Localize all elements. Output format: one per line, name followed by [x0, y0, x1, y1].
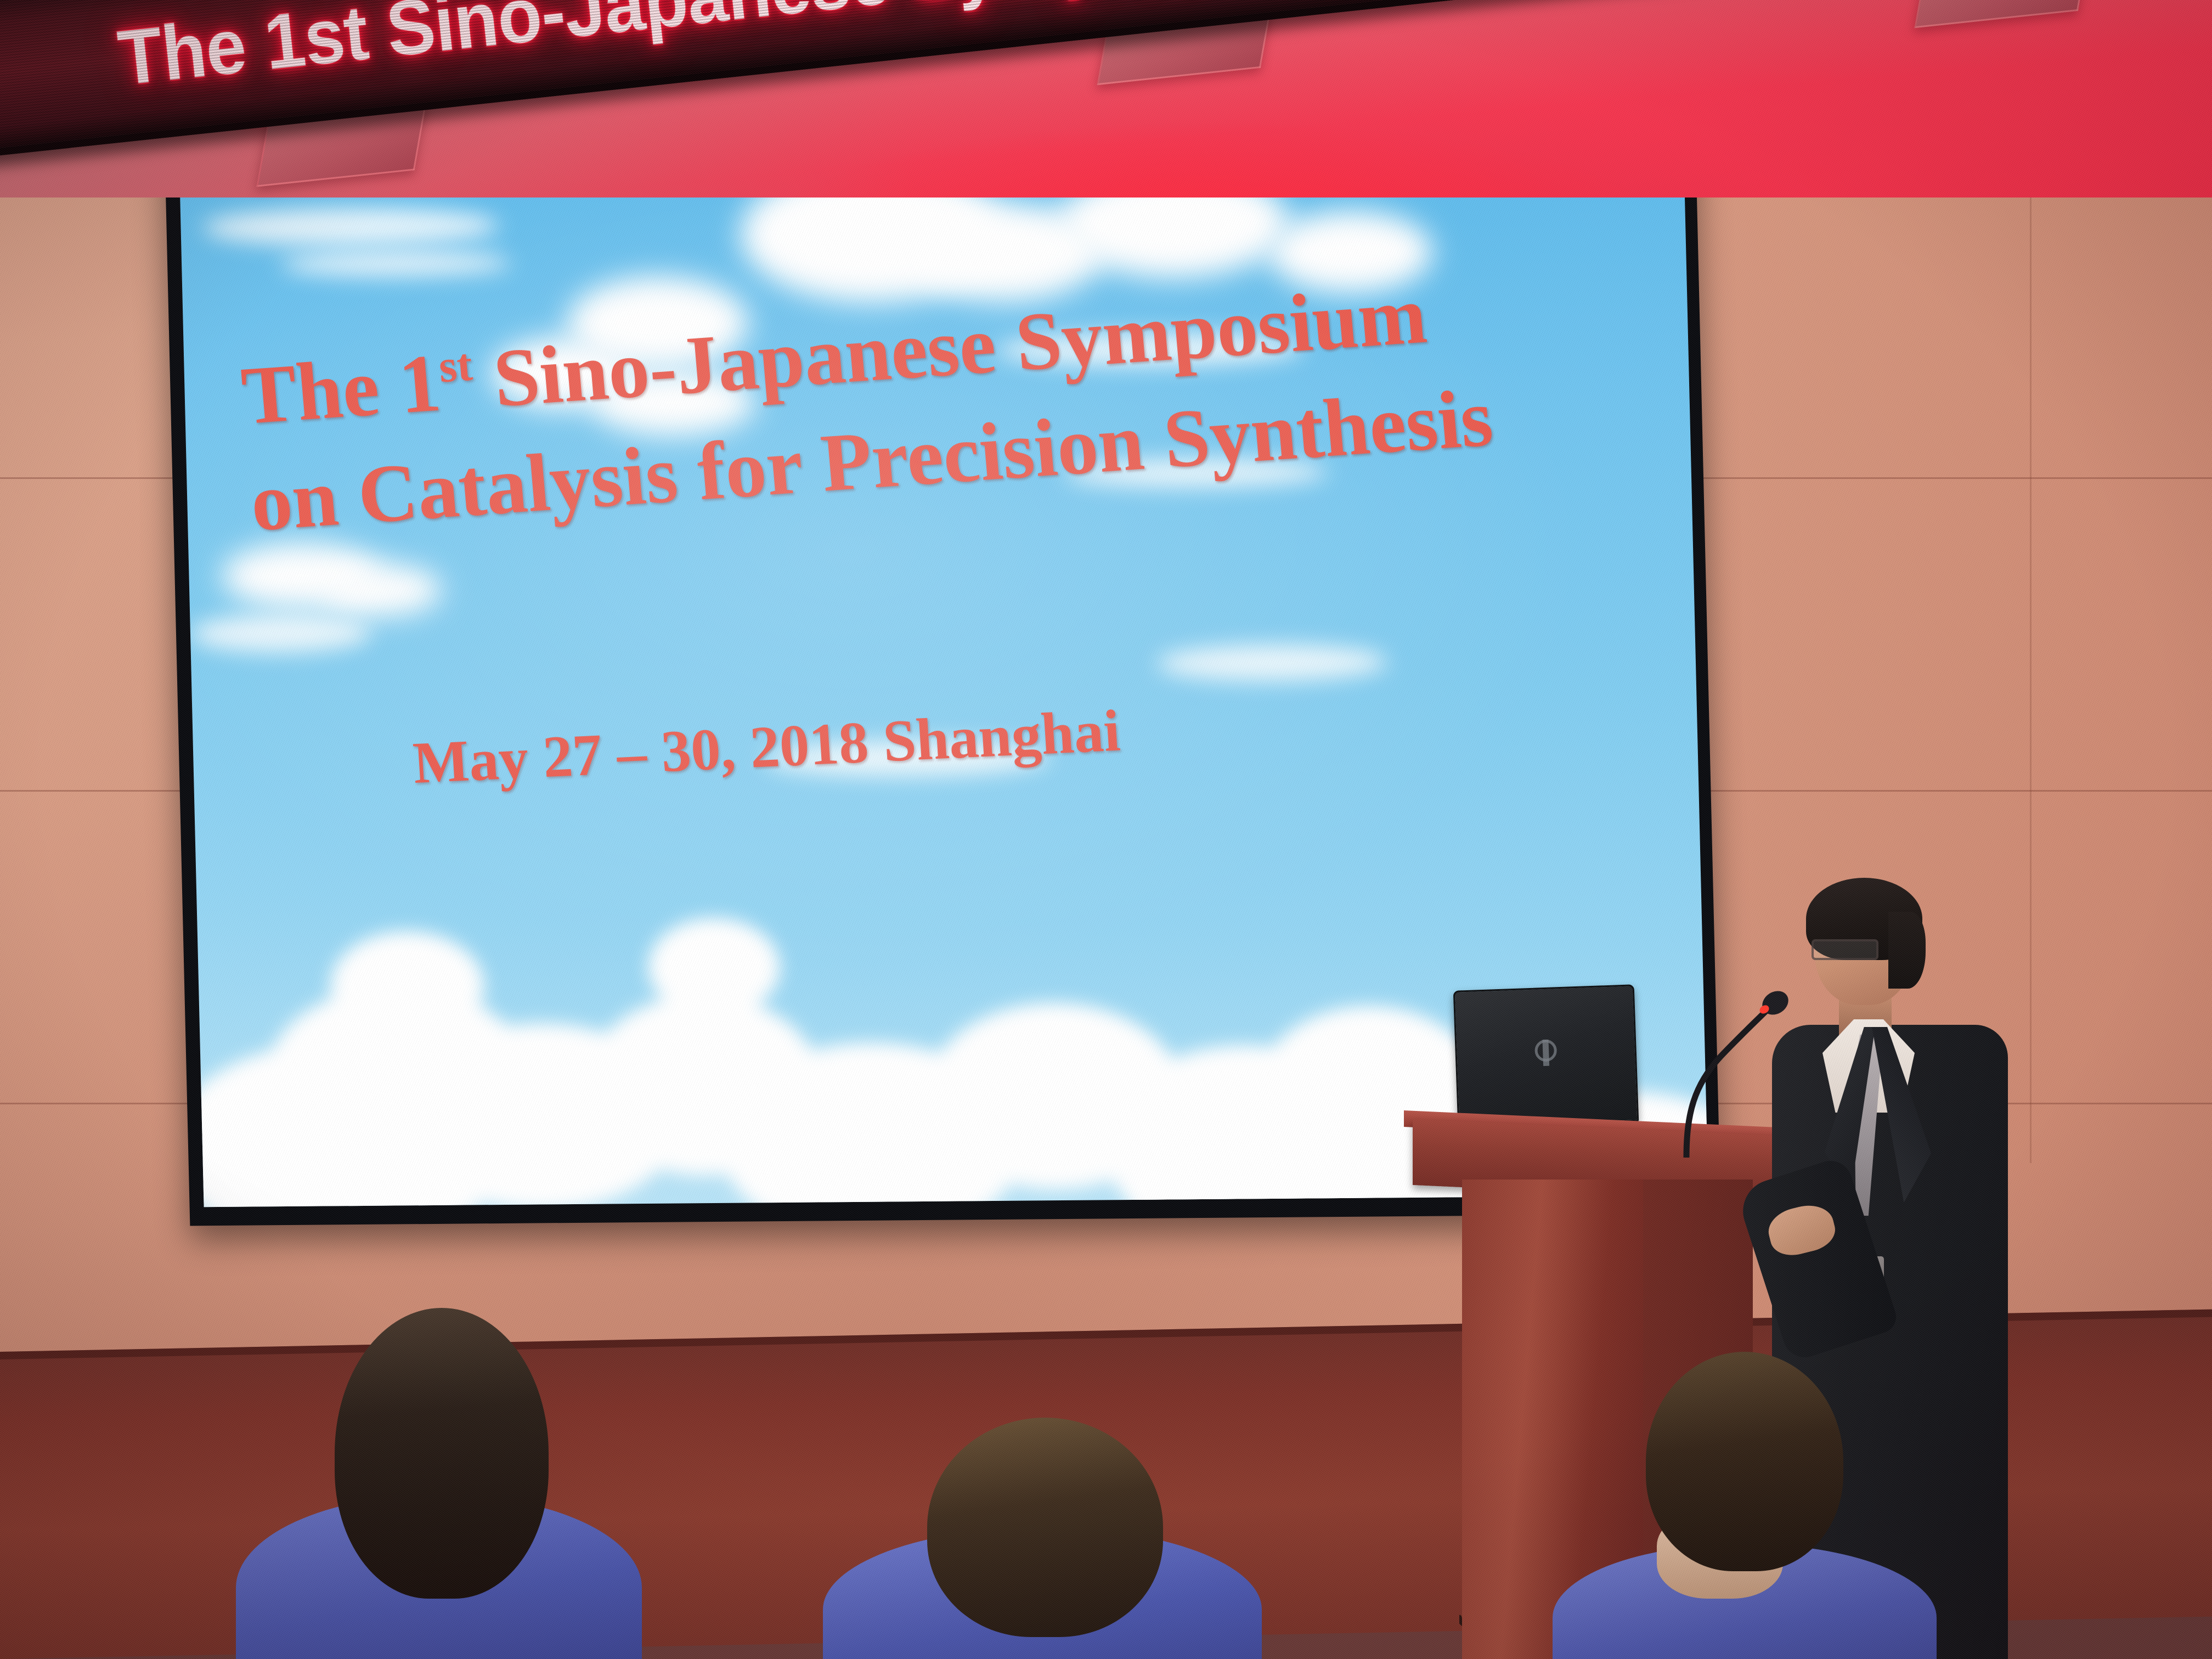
wall-seam-vertical: [2030, 181, 2032, 1163]
speaker-hair-side: [1888, 912, 1926, 989]
audience-member-front-left: [236, 1308, 642, 1659]
slide-title-line1-pre: The: [238, 340, 403, 442]
conference-hall-photo: The 1st Sino-Japanese Symposium on Catal…: [0, 0, 2212, 1659]
audience-member-front-right: [1575, 1352, 1959, 1659]
slide-title-ordinal-suffix: st: [437, 339, 474, 392]
slide-title: The 1st Sino-Japanese Symposium on Catal…: [238, 252, 1568, 556]
audience-hair: [335, 1308, 549, 1599]
audience-hair: [927, 1418, 1163, 1637]
audience-member-front-center: [823, 1423, 1262, 1659]
glasses-icon: [1812, 939, 1878, 960]
laptop-lid: [1453, 984, 1639, 1127]
audience-hair: [1646, 1352, 1843, 1571]
laptop[interactable]: [1453, 984, 1639, 1127]
slide-title-ordinal-number: 1: [396, 337, 444, 431]
slide-date-line: May 27 – 30, 2018 Shanghai: [411, 697, 1122, 798]
dell-logo-icon: [1534, 1040, 1557, 1062]
microphone-icon: [1668, 988, 1788, 1158]
